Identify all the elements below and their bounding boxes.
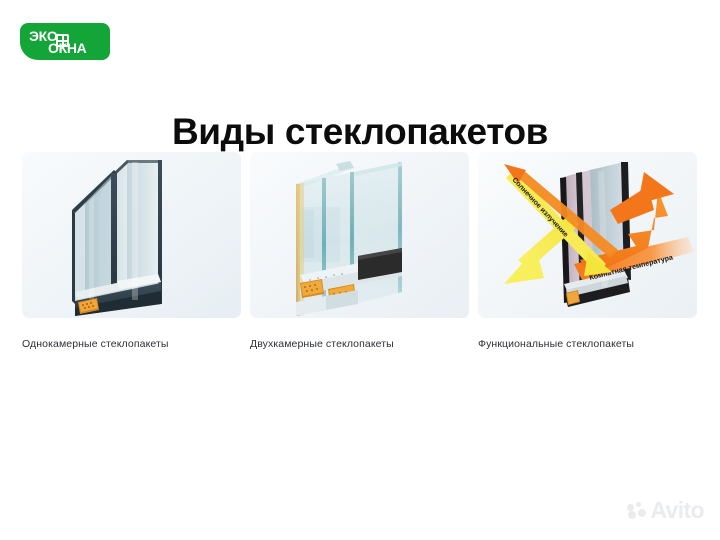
card-caption-functional: Функциональные стеклопакеты — [478, 338, 697, 350]
functional-glass-unit-illustration: Комнатная температура Солнечное излучени… — [478, 152, 697, 318]
figure-single-chamber-glass-unit — [22, 152, 241, 318]
figure-double-chamber-glass-unit — [250, 152, 469, 318]
brand-logo-line2: ОКНА — [48, 41, 86, 55]
card-double-chamber[interactable]: Двухкамерные стеклопакеты — [250, 152, 469, 350]
page-title: Виды стеклопакетов — [0, 111, 720, 153]
card-caption-double-chamber: Двухкамерные стеклопакеты — [250, 338, 469, 350]
brand-logo[interactable]: ЭКО ОКНА — [20, 23, 110, 60]
avito-dots-icon — [627, 502, 646, 519]
single-chamber-glass-unit-illustration — [22, 152, 241, 318]
card-single-chamber[interactable]: Однокамерные стеклопакеты — [22, 152, 241, 350]
glass-unit-card-row: Однокамерные стеклопакеты — [22, 152, 698, 350]
card-caption-single-chamber: Однокамерные стеклопакеты — [22, 338, 241, 350]
avito-watermark: Avito — [627, 499, 704, 522]
double-chamber-glass-unit-illustration — [250, 152, 469, 318]
card-functional[interactable]: Комнатная температура Солнечное излучени… — [478, 152, 697, 350]
avito-wordmark: Avito — [650, 499, 704, 522]
figure-functional-glass-unit: Комнатная температура Солнечное излучени… — [478, 152, 697, 318]
